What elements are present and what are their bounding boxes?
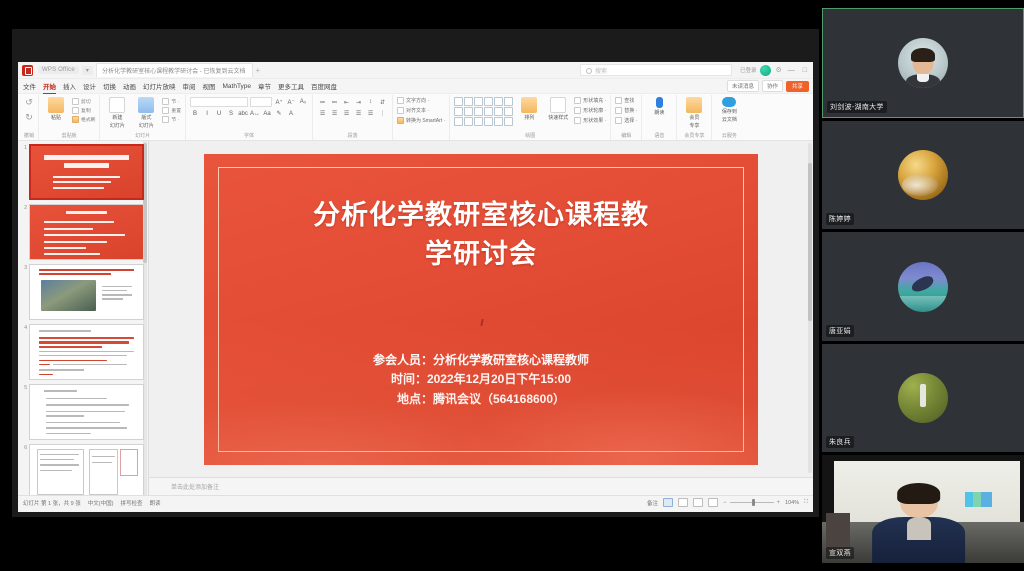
tab-home[interactable]: 开始 <box>43 81 56 91</box>
avatar <box>898 150 948 200</box>
ribbon-group-undo: ↺ ↻ 撤销 <box>20 95 39 140</box>
participant-tile-4[interactable]: 朱良兵 <box>822 344 1024 452</box>
reset-icon <box>162 107 169 114</box>
find-button[interactable]: 查找 <box>615 97 637 104</box>
zoom-out-button[interactable]: − <box>723 500 727 506</box>
member-label: 会员 <box>689 114 699 121</box>
text-direction-side-icon <box>397 97 404 104</box>
new-slide-button[interactable]: 新建 幻灯片 <box>104 97 130 129</box>
clear-format-icon[interactable]: A₀ <box>298 99 308 105</box>
columns-icon[interactable]: ⋮ <box>377 108 388 118</box>
text-direction-icon[interactable]: ⇵ <box>377 97 388 107</box>
account-label: 已登录 <box>740 66 757 74</box>
shape-fill-icon <box>574 97 581 104</box>
slide-info-block[interactable]: 参会人员：分析化学教研室核心课程教师 时间：2022年12月20日下午15:00… <box>204 351 758 410</box>
align-center-icon[interactable]: ☰ <box>329 108 340 118</box>
ribbon-group-speech: 朗读 语音 <box>642 95 677 140</box>
ribbon-group-font-label: 字体 <box>244 132 254 140</box>
notes-toggle[interactable]: 备注 <box>647 499 658 507</box>
ribbon-group-cloud: 保存到 云文档 云服务 <box>712 95 746 140</box>
search-icon <box>615 97 622 104</box>
shape-triangle-icon[interactable] <box>464 107 473 116</box>
shape-box-icon[interactable] <box>454 107 463 116</box>
decrease-indent-icon[interactable]: ⇤ <box>341 97 352 107</box>
slide-title-line-1: 分析化学教研室核心课程教 <box>244 196 718 235</box>
avatar <box>898 38 948 88</box>
change-case-icon[interactable]: Aa <box>262 111 272 117</box>
titlebar-right-group: 已登录 ⚙ — □ <box>740 65 809 76</box>
shape-effect-label: 形状效果 · <box>583 117 606 124</box>
font-color-icon[interactable]: A <box>286 111 296 117</box>
format-painter-label: 格式刷 <box>81 116 95 123</box>
convert-smartart-button[interactable]: 转换为 SmartArt · <box>397 117 445 124</box>
wps-brand-chip: WPS Office <box>38 66 79 74</box>
shape-rect-icon[interactable] <box>454 97 463 106</box>
quick-style-button[interactable]: 快速样式 <box>545 97 571 121</box>
text-direction-label: 文字方向 · <box>406 97 429 104</box>
video-person <box>873 483 966 563</box>
tab-mathtype[interactable]: MathType <box>223 83 252 90</box>
view-normal-button[interactable] <box>663 498 673 507</box>
meeting-screen: WPS Office ▾ 分析化学教研室核心课程教学研讨会 - 已恢复到云文档 … <box>0 0 1024 571</box>
layout-sub: 幻灯片 <box>139 122 154 129</box>
read-aloud-label: 朗读 <box>654 109 664 116</box>
new-slide-icon <box>109 97 125 113</box>
menubar-right-group: 未读消息 协作 共享 <box>727 80 813 92</box>
align-text-label: 对齐文本 · <box>406 107 429 114</box>
shape-line-icon[interactable] <box>474 97 483 106</box>
share-button[interactable]: 共享 <box>786 81 809 92</box>
view-reading-button[interactable] <box>693 498 703 507</box>
shape-outline-icon <box>574 107 581 114</box>
tab-slideshow[interactable]: 幻灯片放映 <box>143 81 176 91</box>
minimize-button[interactable]: — <box>786 67 797 74</box>
paste-button[interactable]: 粘贴 <box>43 97 69 121</box>
zoom-knob[interactable] <box>752 499 755 506</box>
shape-star-icon[interactable] <box>504 107 513 116</box>
thumbnail-slide-5[interactable] <box>29 384 144 440</box>
shape-outline-label: 形状轮廓 · <box>583 107 606 114</box>
cut-label: 剪切 <box>81 98 91 105</box>
tab-file[interactable]: 文件 <box>23 81 36 91</box>
more-icon <box>162 116 169 123</box>
paste-label: 粘贴 <box>51 114 61 121</box>
format-painter-icon <box>72 116 79 123</box>
ribbon-group-paragraph: ≔ ≕ ⇤ ⇥ ↕ ⇵ ☰ ☰ ☰ ☰ ☰ ⋮ <box>313 95 393 140</box>
section-icon <box>162 98 169 105</box>
slide-title-line-2: 学研讨会 <box>244 235 718 274</box>
ribbon-tab-bar: 文件 开始 插入 设计 切换 动画 幻灯片放映 审阅 视图 MathType 章… <box>18 79 813 94</box>
distribute-icon[interactable]: ☰ <box>365 108 376 118</box>
slide-editing-pane: 分析化学教研室核心课程教 学研讨会 参会人员：分析化学教研室核心课程教师 时间：… <box>149 141 813 495</box>
tab-review[interactable]: 审阅 <box>183 81 196 91</box>
unread-button[interactable]: 未读消息 <box>727 80 759 92</box>
thumbnail-row[interactable]: 6 <box>18 444 148 495</box>
ribbon-group-editing: 查找 替换 · 选择 · 编辑 <box>611 95 642 140</box>
fit-to-window-icon[interactable]: ⛶ <box>804 499 808 506</box>
select-button[interactable]: 选择 · <box>615 117 637 124</box>
zoom-track[interactable] <box>730 502 774 503</box>
view-slideshow-button[interactable] <box>708 498 718 507</box>
replace-button[interactable]: 替换 · <box>615 107 637 114</box>
shape-arc-icon[interactable] <box>494 107 503 116</box>
quick-style-icon <box>550 97 566 113</box>
view-sorter-button[interactable] <box>678 498 688 507</box>
align-text-button[interactable]: 对齐文本 · <box>397 107 445 114</box>
ribbon-group-member: 会员 专享 会员专享 <box>677 95 712 140</box>
shape-pen-icon[interactable] <box>454 117 463 126</box>
tab-baidu-netdisk[interactable]: 百度网盘 <box>311 81 337 91</box>
shape-fill-label: 形状填充 · <box>583 97 606 104</box>
thumbnail-number: 1 <box>20 144 29 200</box>
slide-thumbnail-pane[interactable]: 1 2 <box>18 141 149 495</box>
cloud-icon <box>722 97 736 107</box>
wps-title-bar: WPS Office ▾ 分析化学教研室核心课程教学研讨会 - 已恢复到云文档 … <box>18 62 813 79</box>
copy-button[interactable]: 复制 <box>72 107 95 114</box>
convert-smartart-label: 转换为 SmartArt · <box>406 117 445 124</box>
increase-font-icon[interactable]: A⁺ <box>274 99 284 106</box>
shape-fill-button[interactable]: 形状填充 · <box>574 97 606 104</box>
ribbon-group-cloud-label: 云服务 <box>722 132 737 140</box>
reset-button[interactable]: 重置 <box>162 107 181 114</box>
current-slide[interactable]: 分析化学教研室核心课程教 学研讨会 参会人员：分析化学教研室核心课程教师 时间：… <box>204 154 758 465</box>
wps-logo-icon <box>22 65 33 76</box>
thumbnail-row[interactable]: 3 <box>18 264 148 324</box>
slide-vertical-scrollbar[interactable] <box>808 143 812 473</box>
strikethrough-icon[interactable]: S <box>226 111 236 117</box>
participant-tile-1[interactable]: 刘剑波-湖南大学 <box>822 8 1024 118</box>
status-right-group: 备注 − + 104% ⛶ <box>647 498 808 507</box>
ribbon-group-clipboard: 粘贴 剪切 复制 <box>39 95 100 140</box>
slide-info-attendees: 参会人员：分析化学教研室核心课程教师 <box>204 351 758 371</box>
background-chart <box>965 492 991 507</box>
account-avatar[interactable] <box>760 65 771 76</box>
decrease-font-icon[interactable]: A⁻ <box>286 99 296 106</box>
reading-indicator[interactable]: 朗读 <box>149 499 160 507</box>
slide-more-button[interactable]: 节 · <box>162 116 181 123</box>
shared-screen-area: WPS Office ▾ 分析化学教研室核心课程教学研讨会 - 已恢复到云文档 … <box>12 29 819 517</box>
ribbon-group-smartart: 文字方向 · 对齐文本 · 转换为 SmartArt · <box>393 95 450 140</box>
arrange-icon <box>521 97 537 113</box>
shape-brace-icon[interactable] <box>484 117 493 126</box>
italic-icon[interactable]: I <box>202 111 212 117</box>
tab-insert[interactable]: 插入 <box>63 81 76 91</box>
document-tab[interactable]: 分析化学教研室核心课程教学研讨会 - 已恢复到云文档 <box>96 63 253 77</box>
slide-more-label: 节 · <box>171 116 179 123</box>
cut-button[interactable]: 剪切 <box>72 98 95 105</box>
ribbon-group-member-label: 会员专享 <box>684 132 704 140</box>
shape-gallery[interactable] <box>454 97 513 126</box>
numbering-icon[interactable]: ≕ <box>329 97 340 107</box>
slide-info-location: 地点：腾讯会议（564168600） <box>204 390 758 410</box>
ribbon-group-font: A⁺ A⁻ A₀ B I U S abc A↔ Aa ✎ <box>186 95 313 140</box>
save-to-cloud-label: 保存到 <box>722 108 737 115</box>
arrange-button[interactable]: 排列 <box>516 97 542 121</box>
tab-more-tools[interactable]: 更多工具 <box>278 81 304 91</box>
thumbnail-number: 4 <box>20 324 29 380</box>
slide-canvas-wrapper: 分析化学教研室核心课程教 学研讨会 参会人员：分析化学教研室核心课程教师 时间：… <box>149 141 813 477</box>
thumbnail-number: 3 <box>20 264 29 320</box>
tab-animations[interactable]: 动画 <box>123 81 136 91</box>
settings-icon[interactable]: ⚙ <box>775 66 781 74</box>
increase-indent-icon[interactable]: ⇥ <box>353 97 364 107</box>
find-label: 查找 <box>624 97 634 104</box>
shape-effect-icon <box>574 117 581 124</box>
arrange-label: 排列 <box>524 114 534 121</box>
maximize-button[interactable]: □ <box>801 67 809 74</box>
underline-icon[interactable]: U <box>214 111 224 117</box>
shape-more-icon[interactable] <box>504 117 513 126</box>
collaborate-button[interactable]: 协作 <box>762 80 783 92</box>
shape-angle-icon[interactable] <box>474 107 483 116</box>
replace-icon <box>615 107 622 114</box>
wps-presentation-window: WPS Office ▾ 分析化学教研室核心课程教学研讨会 - 已恢复到云文档 … <box>18 62 813 512</box>
bullets-icon[interactable]: ≔ <box>317 97 328 107</box>
thumbnail-slide-2[interactable] <box>29 204 144 260</box>
ribbon-group-speech-label: 语音 <box>654 132 664 140</box>
participant-video-rail: 刘剑波-湖南大学 陈婷婷 唐亚娟 朱良兵 <box>822 8 1024 563</box>
line-spacing-icon[interactable]: ↕ <box>365 97 376 107</box>
save-to-cloud-button[interactable]: 保存到 云文档 <box>716 97 742 123</box>
thumbnail-row[interactable]: 2 <box>18 204 148 264</box>
shape-bracket-icon[interactable] <box>494 117 503 126</box>
align-left-icon[interactable]: ☰ <box>317 108 328 118</box>
avatar <box>898 262 948 312</box>
participant-tile-5[interactable]: 宣双燕 <box>822 455 1024 563</box>
font-size-input[interactable] <box>250 97 272 107</box>
undo-icon[interactable]: ↺ <box>25 97 33 108</box>
thumbnail-slide-4[interactable] <box>29 324 144 380</box>
reset-label: 重置 <box>171 107 181 114</box>
slide-counter: 幻灯片 第 1 张，共 9 张 <box>23 499 81 507</box>
member-sub: 专享 <box>689 122 699 129</box>
avatar <box>898 373 948 423</box>
thumbnail-number: 5 <box>20 384 29 440</box>
new-tab-button[interactable]: + <box>255 66 260 75</box>
participant-name: 陈婷婷 <box>826 213 854 225</box>
tab-view[interactable]: 视图 <box>203 81 216 91</box>
shape-polyline-icon[interactable] <box>474 117 483 126</box>
tab-sections[interactable]: 章节 <box>258 81 271 91</box>
shape-freeform-icon[interactable] <box>464 117 473 126</box>
thumbnail-number: 2 <box>20 204 29 260</box>
participant-tile-2[interactable]: 陈婷婷 <box>822 121 1024 229</box>
text-direction-button[interactable]: 文字方向 · <box>397 97 445 104</box>
ribbon-group-editing-label: 编辑 <box>621 132 631 140</box>
text-highlight-icon[interactable]: ✎ <box>274 110 284 117</box>
shape-circle-icon[interactable] <box>504 97 513 106</box>
shape-arrow-icon[interactable] <box>484 97 493 106</box>
layout-button[interactable]: 版式 幻灯片 <box>133 97 159 129</box>
cut-icon <box>72 98 79 105</box>
thumbnail-slide-1[interactable] <box>29 144 144 200</box>
quick-style-label: 快速样式 <box>548 114 568 121</box>
ribbon-toolbar: ↺ ↻ 撤销 粘贴 <box>18 94 813 141</box>
bold-icon[interactable]: B <box>190 111 200 117</box>
participant-name: 刘剑波-湖南大学 <box>827 101 887 113</box>
zoom-in-button[interactable]: + <box>777 500 781 506</box>
member-button[interactable]: 会员 专享 <box>681 97 707 129</box>
copy-icon <box>72 107 79 114</box>
participant-name: 唐亚娟 <box>826 325 854 337</box>
microphone-icon <box>656 97 663 108</box>
format-painter-button[interactable]: 格式刷 <box>72 116 95 123</box>
save-to-cloud-sub: 云文档 <box>722 116 737 123</box>
ribbon-group-paragraph-label: 段落 <box>348 132 358 140</box>
shape-rounded-icon[interactable] <box>464 97 473 106</box>
copy-label: 复制 <box>81 107 91 114</box>
layout-label: 版式 <box>141 114 151 121</box>
status-bar: 幻灯片 第 1 张，共 9 张 中文(中国) 拼写检查 朗读 备注 − + <box>18 495 813 509</box>
new-slide-label: 新建 <box>112 114 122 121</box>
participant-name: 宣双燕 <box>826 547 854 559</box>
redo-icon[interactable]: ↻ <box>25 112 33 123</box>
ribbon-group-clipboard-label: 剪贴板 <box>62 132 77 140</box>
replace-label: 替换 · <box>624 107 637 114</box>
section-label: 节 · <box>171 98 179 105</box>
ribbon-group-drawing: 排列 快速样式 形状填充 · <box>450 95 611 140</box>
participant-tile-3[interactable]: 唐亚娟 <box>822 232 1024 340</box>
subscript-icon[interactable]: abc <box>238 111 248 117</box>
ribbon-group-slides: 新建 幻灯片 版式 幻灯片 节 · <box>100 95 186 140</box>
member-icon <box>686 97 702 113</box>
ribbon-group-undo-label: 撤销 <box>24 132 34 140</box>
thumbnail-row[interactable]: 4 <box>18 324 148 384</box>
shape-outline-button[interactable]: 形状轮廓 · <box>574 107 606 114</box>
thumbnail-slide-6[interactable] <box>29 444 144 495</box>
section-button[interactable]: 节 · <box>162 98 181 105</box>
paste-icon <box>48 97 64 113</box>
ribbon-group-smartart-label <box>420 133 421 140</box>
notes-placeholder[interactable]: 单击此处添加备注 <box>149 477 813 495</box>
shape-effect-button[interactable]: 形状效果 · <box>574 117 606 124</box>
editor-body: 1 2 <box>18 141 813 495</box>
select-icon <box>615 117 622 124</box>
align-text-icon <box>397 107 404 114</box>
slide-title[interactable]: 分析化学教研室核心课程教 学研讨会 <box>244 196 718 274</box>
zoom-slider[interactable]: − + <box>723 500 780 506</box>
slide-info-time: 时间：2022年12月20日下午15:00 <box>204 370 758 390</box>
thumbnail-slide-3[interactable] <box>29 264 144 320</box>
zoom-level[interactable]: 104% <box>785 500 799 506</box>
language-indicator[interactable]: 中文(中国) <box>88 499 114 507</box>
read-aloud-button[interactable]: 朗读 <box>646 97 672 116</box>
shape-square-icon[interactable] <box>494 97 503 106</box>
select-label: 选择 · <box>624 117 637 124</box>
thumbnail-row[interactable]: 5 <box>18 384 148 444</box>
justify-icon[interactable]: ☰ <box>353 108 364 118</box>
shape-curve-icon[interactable] <box>484 107 493 116</box>
thumbnail-row[interactable]: 1 <box>18 144 148 204</box>
spellcheck-indicator[interactable]: 拼写检查 <box>120 499 142 507</box>
tab-transitions[interactable]: 切换 <box>103 81 116 91</box>
ribbon-group-slides-label: 幻灯片 <box>135 132 150 140</box>
tab-design[interactable]: 设计 <box>83 81 96 91</box>
char-spacing-icon[interactable]: A↔ <box>250 111 260 117</box>
font-name-input[interactable] <box>190 97 248 107</box>
layout-icon <box>138 97 154 113</box>
thumbnail-number: 6 <box>20 444 29 495</box>
ribbon-group-drawing-label: 绘图 <box>525 132 535 140</box>
quick-access-icon[interactable]: ▾ <box>82 66 93 75</box>
align-right-icon[interactable]: ☰ <box>341 108 352 118</box>
participant-name: 朱良兵 <box>826 436 854 448</box>
search-input[interactable]: 搜索 <box>580 64 732 76</box>
new-slide-sub: 幻灯片 <box>110 122 125 129</box>
smartart-icon <box>397 117 404 124</box>
